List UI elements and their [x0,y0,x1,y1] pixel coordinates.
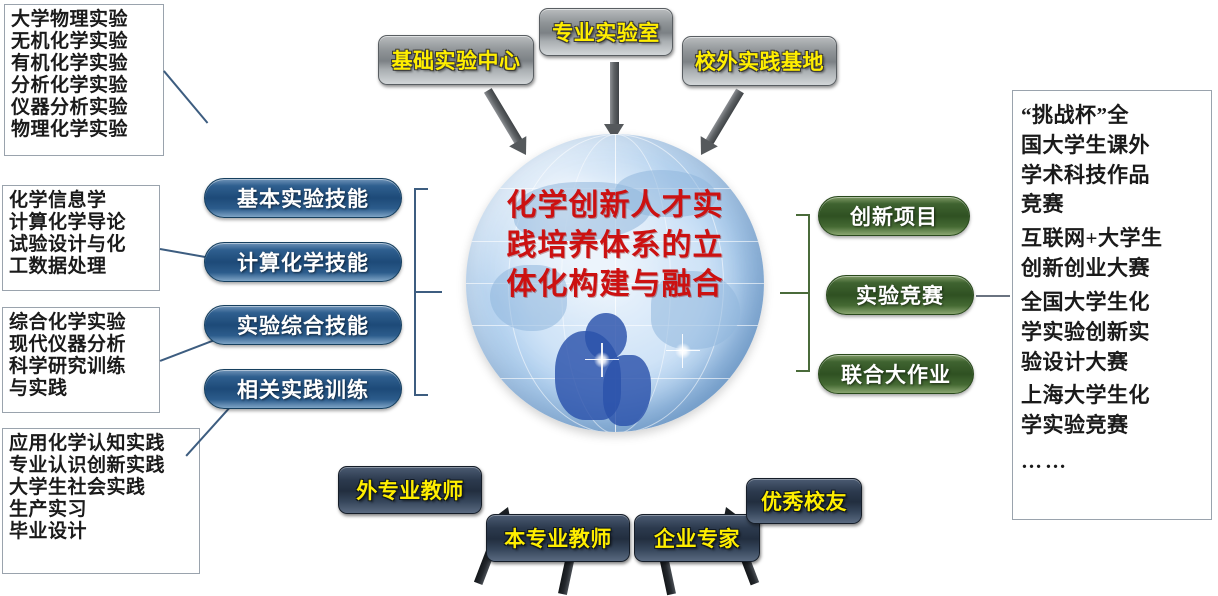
textbox-line: 全国大学生化 [1021,288,1203,318]
left-textbox-computational-chemistry-courses: 化学信息学 计算化学导论 试验设计与化 工数据处理 [2,185,160,291]
skill-pill-computational-chemistry[interactable]: 计算化学技能 [204,242,402,282]
top-box-professional-laboratory[interactable]: 专业实验室 [539,8,673,56]
textbox-line: 物理化学实验 [11,119,158,141]
center-title-line: 践培养体系的立 [466,226,764,266]
bottom-box-enterprise-experts[interactable]: 企业专家 [634,514,760,562]
textbox-line: 专业认识创新实践 [9,455,194,477]
textbox-line: “挑战杯”全 [1021,101,1203,131]
textbox-line: 工数据处理 [9,256,154,278]
textbox-line: 试验设计与化 [9,234,154,256]
left-textbox-practice-training-courses: 应用化学认知实践 专业认识创新实践 大学生社会实践 生产实习 毕业设计 [2,428,200,574]
skill-pill-label: 计算化学技能 [237,247,369,277]
skill-pill-label: 相关实践训练 [237,374,369,404]
connector-line-box3-to-pill3 [160,339,215,361]
skill-pill-label: 实验综合技能 [237,310,369,340]
textbox-line: 竞赛 [1021,190,1203,220]
textbox-line: 分析化学实验 [11,75,158,97]
textbox-line: 学实验创新实 [1021,318,1203,348]
globe-graphic: 化学创新人才实 践培养体系的立 体化构建与融合 [466,134,764,432]
textbox-line: 计算化学导论 [9,212,154,234]
diagram-canvas: 大学物理实验 无机化学实验 有机化学实验 分析化学实验 仪器分析实验 物理化学实… [0,0,1218,580]
bottom-box-label: 企业专家 [654,523,740,553]
center-title-line: 化学创新人才实 [466,186,764,226]
bottom-box-external-major-teachers[interactable]: 外专业教师 [338,466,482,514]
textbox-line: 仪器分析实验 [11,97,158,119]
textbox-line: 互联网+大学生 [1021,224,1203,254]
bottom-box-label: 外专业教师 [356,475,464,505]
top-box-label: 校外实践基地 [695,46,824,76]
bottom-box-label: 优秀校友 [761,486,847,516]
right-bracket [780,214,810,372]
skill-pill-practice-training[interactable]: 相关实践训练 [204,369,402,409]
activity-pill-experiment-competition[interactable]: 实验竞赛 [826,275,974,315]
textbox-line: …… [1021,447,1203,477]
connector-line-box1-to-pill1 [163,70,208,123]
right-textbox-competitions-list: “挑战杯”全 国大学生课外 学术科技作品 竞赛 互联网+大学生 创新创业大赛 全… [1012,90,1212,520]
textbox-line: 科学研究训练 [9,356,154,378]
connector-line-activity-to-competitions [976,295,1010,297]
bottom-box-outstanding-alumni[interactable]: 优秀校友 [746,478,862,524]
textbox-line: 国大学生课外 [1021,131,1203,161]
arrow-top-center-into-globe [604,62,624,140]
activity-pill-label: 创新项目 [850,201,938,231]
top-box-basic-experiment-center[interactable]: 基础实验中心 [378,35,534,85]
textbox-line: 化学信息学 [9,190,154,212]
skill-pill-basic-experiment[interactable]: 基本实验技能 [204,178,402,218]
left-textbox-basic-experiment-courses: 大学物理实验 无机化学实验 有机化学实验 分析化学实验 仪器分析实验 物理化学实… [4,4,164,156]
top-box-label: 专业实验室 [552,17,660,47]
top-box-label: 基础实验中心 [392,45,521,75]
bottom-box-own-major-teachers[interactable]: 本专业教师 [486,514,630,562]
left-bracket [414,188,444,396]
bottom-box-label: 本专业教师 [504,523,612,553]
textbox-line: 应用化学认知实践 [9,433,194,455]
textbox-line: 大学物理实验 [11,9,158,31]
textbox-line: 综合化学实验 [9,312,154,334]
textbox-line: 学术科技作品 [1021,161,1203,191]
skill-pill-label: 基本实验技能 [237,183,369,213]
textbox-line: 现代仪器分析 [9,334,154,356]
activity-pill-joint-assignment[interactable]: 联合大作业 [818,354,974,394]
arrow-top-right-into-globe [692,86,748,161]
textbox-line: 毕业设计 [9,521,194,543]
textbox-line: 上海大学生化 [1021,381,1203,411]
activity-pill-innovation-project[interactable]: 创新项目 [818,196,970,236]
textbox-line: 生产实习 [9,499,194,521]
textbox-line: 无机化学实验 [11,31,158,53]
center-title-line: 体化构建与融合 [466,265,764,305]
left-textbox-comprehensive-experiment-courses: 综合化学实验 现代仪器分析 科学研究训练 与实践 [2,307,160,413]
textbox-line: 学实验竞赛 [1021,411,1203,441]
textbox-line: 有机化学实验 [11,53,158,75]
textbox-line: 创新创业大赛 [1021,254,1203,284]
textbox-line: 大学生社会实践 [9,477,194,499]
top-box-offcampus-practice-base[interactable]: 校外实践基地 [682,36,837,86]
center-title: 化学创新人才实 践培养体系的立 体化构建与融合 [466,186,764,305]
textbox-line: 与实践 [9,378,154,400]
activity-pill-label: 实验竞赛 [856,280,944,310]
arrow-top-left-into-globe [479,86,535,161]
skill-pill-comprehensive-experiment[interactable]: 实验综合技能 [204,305,402,345]
textbox-line: 验设计大赛 [1021,348,1203,378]
activity-pill-label: 联合大作业 [841,359,951,389]
